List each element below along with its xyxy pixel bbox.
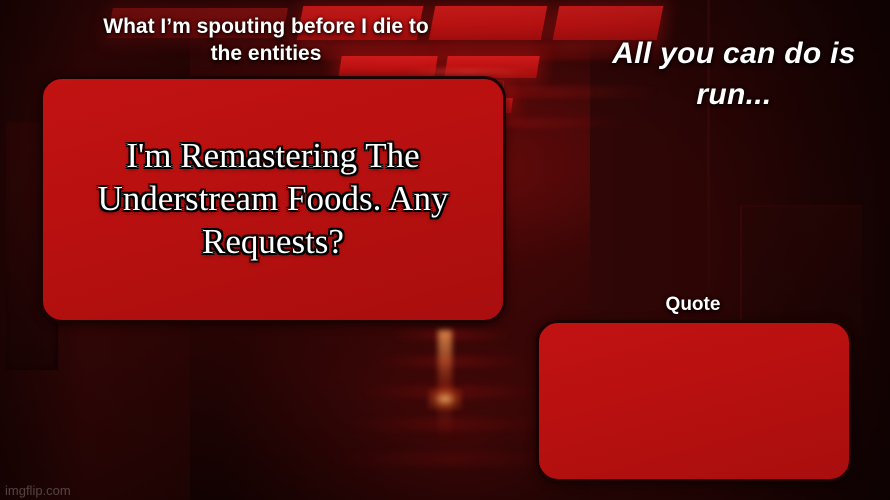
right-caption: All you can do is run... [600,34,868,115]
quote-label: Quote [608,294,778,316]
quote-box[interactable] [536,320,852,482]
ceiling-light-panel [429,6,548,40]
main-announcement-box[interactable]: I'm Remastering The Understream Foods. A… [40,76,506,323]
main-announcement-text: I'm Remastering The Understream Foods. A… [55,135,491,263]
heading-caption: What I’m spouting before I die to the en… [96,14,436,68]
meme-image: EXIT What I’m spouting before I die to t… [0,0,890,500]
floor-reflection-highlight [428,388,462,410]
imgflip-watermark: imgflip.com [5,483,71,498]
floor-reflection-core [438,330,452,440]
exit-sign-light-bar [404,68,532,75]
